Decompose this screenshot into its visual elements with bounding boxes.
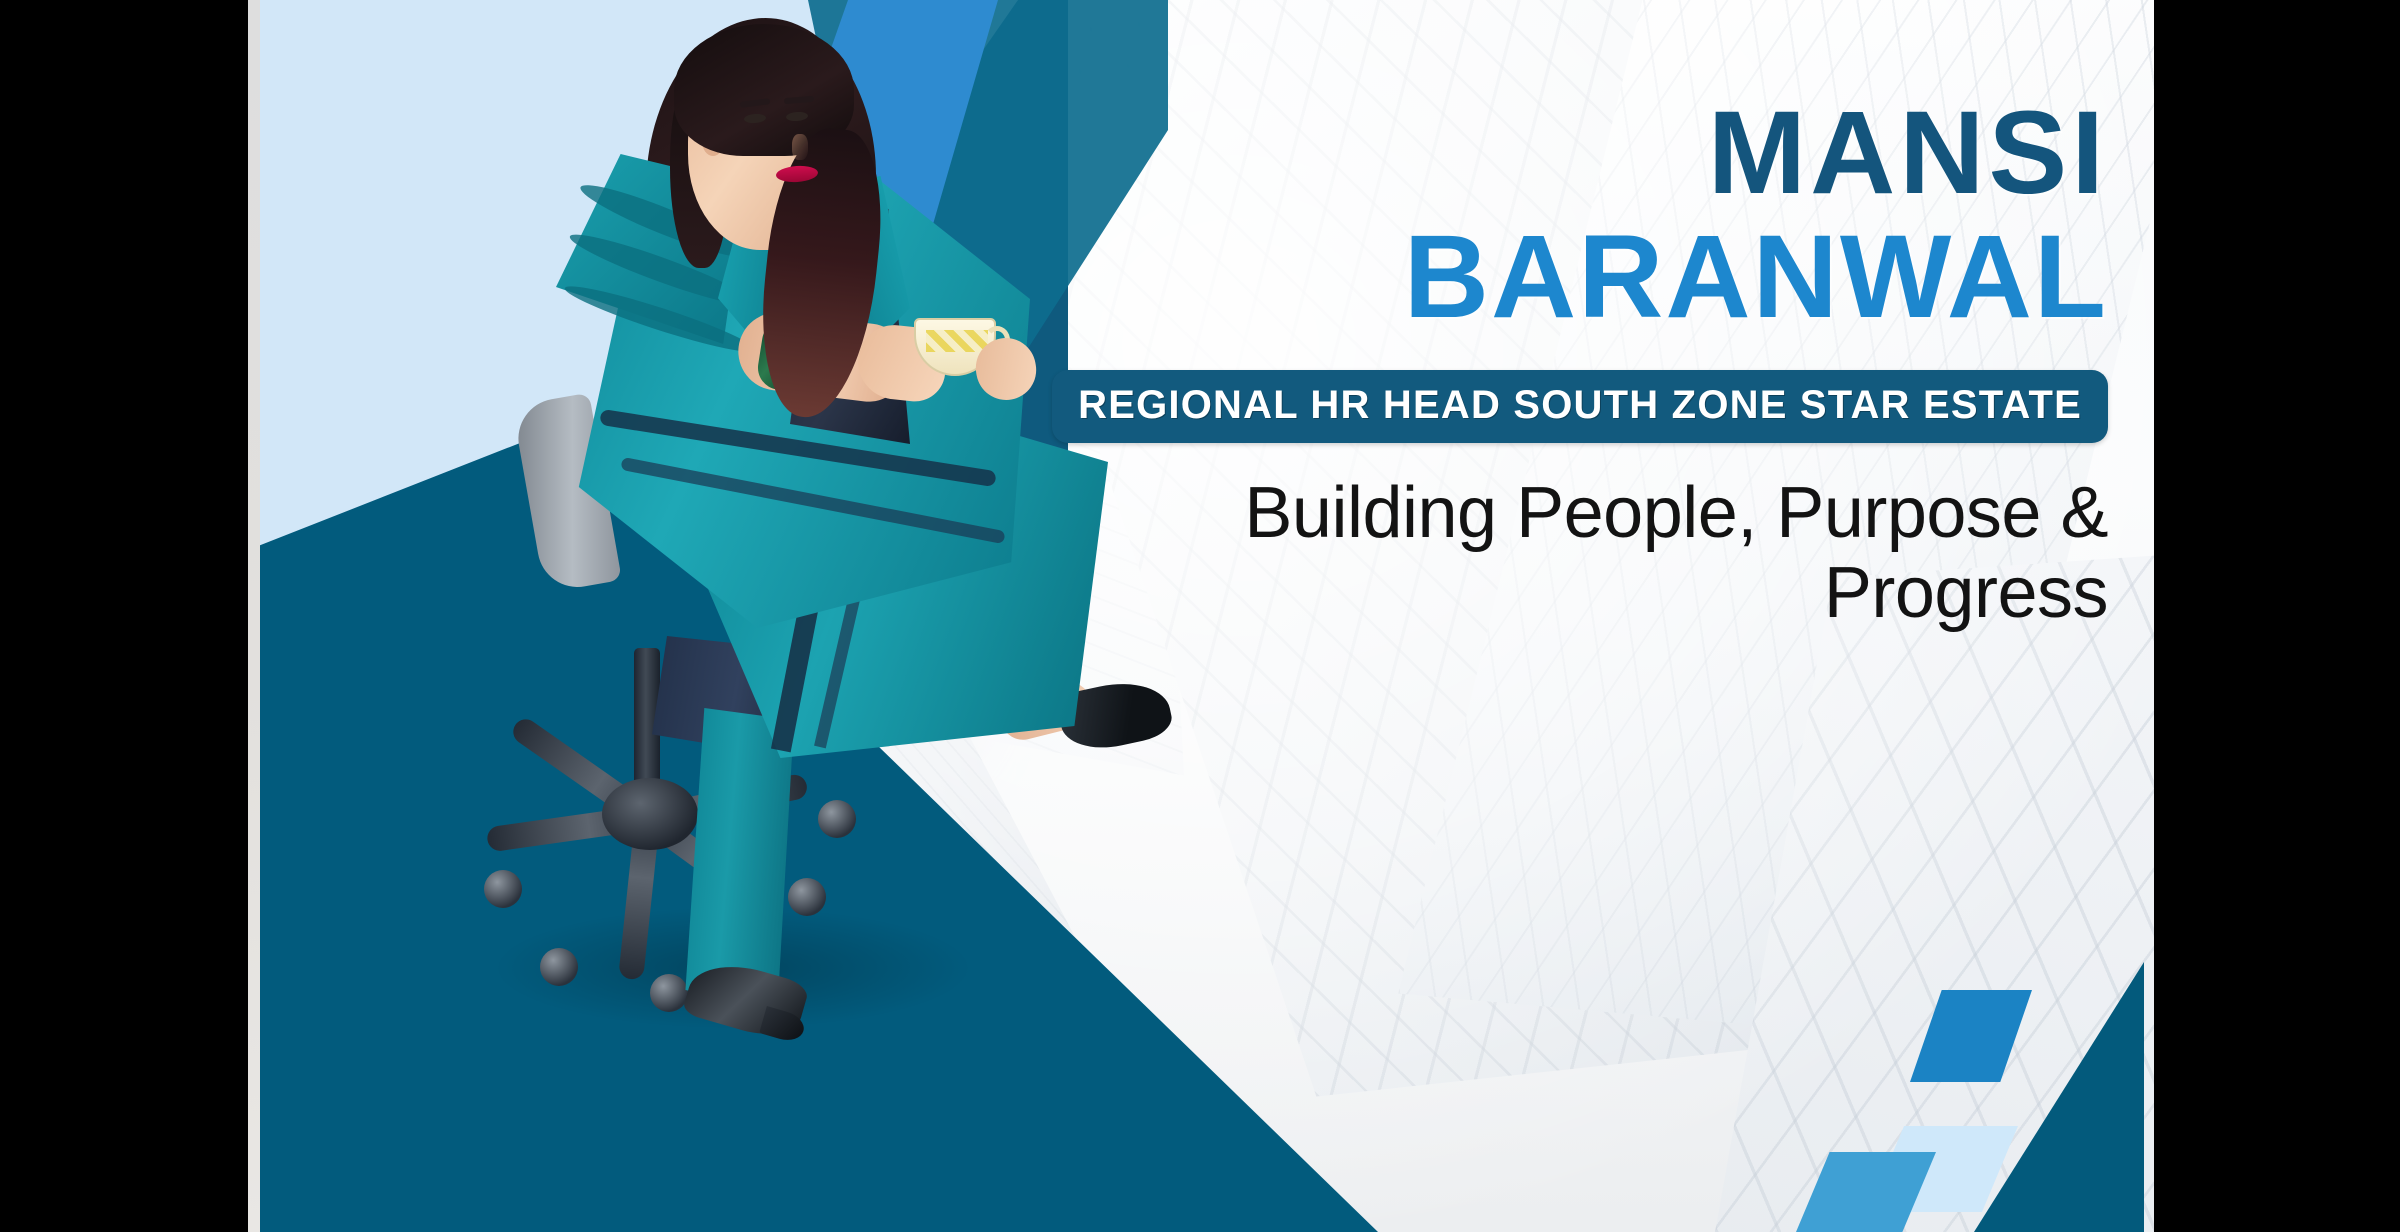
logo-parallelogram-upper — [1910, 990, 2032, 1082]
screenshot-stage: MANSI BARANWAL REGIONAL HR HEAD SOUTH ZO… — [0, 0, 2400, 1232]
office-chair-caster — [650, 974, 688, 1012]
office-chair-caster — [788, 878, 826, 916]
left-edge-strip — [248, 0, 260, 1232]
portrait-cutout — [388, 8, 1028, 1158]
profile-banner-canvas: MANSI BARANWAL REGIONAL HR HEAD SOUTH ZO… — [248, 0, 2154, 1232]
office-chair-caster — [540, 948, 578, 986]
tagline: Building People, Purpose & Progress — [1048, 473, 2108, 634]
tagline-line-1: Building People, Purpose & — [1244, 473, 2108, 553]
tagline-line-2: Progress — [1824, 553, 2108, 633]
name-last-line: BARANWAL — [1048, 218, 2108, 336]
subject-nose — [792, 134, 808, 160]
chevron-logo-icon — [1844, 962, 2144, 1232]
office-chair-caster — [818, 800, 856, 838]
text-block: MANSI BARANWAL REGIONAL HR HEAD SOUTH ZO… — [1048, 96, 2108, 634]
name-first-line: MANSI — [1048, 96, 2108, 212]
office-chair-caster — [484, 870, 522, 908]
role-badge: REGIONAL HR HEAD SOUTH ZONE STAR ESTATE — [1052, 370, 2108, 443]
office-chair-hub — [602, 778, 698, 850]
